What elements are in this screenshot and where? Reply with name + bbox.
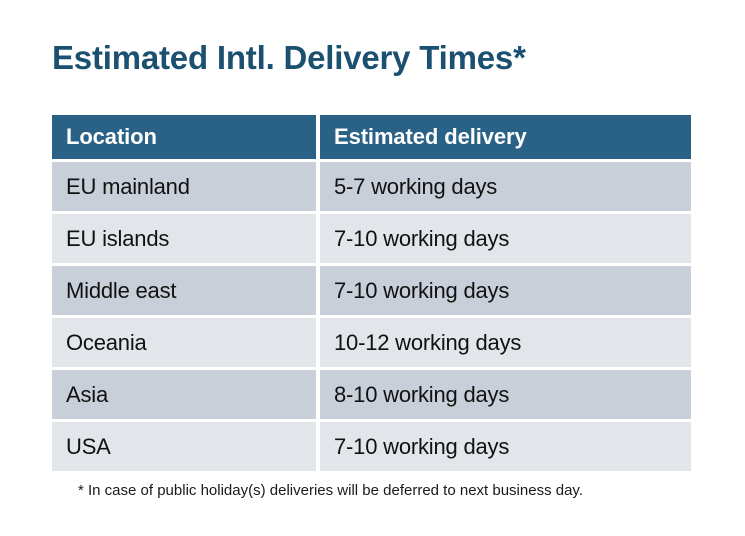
- footnote-text: * In case of public holiday(s) deliverie…: [78, 480, 583, 502]
- cell-location: Oceania: [52, 318, 316, 367]
- table-row: EU mainland 5-7 working days: [52, 162, 691, 211]
- delivery-times-page: Estimated Intl. Delivery Times* Location…: [0, 0, 745, 536]
- cell-estimated-delivery: 10-12 working days: [320, 318, 691, 367]
- cell-estimated-delivery: 7-10 working days: [320, 266, 691, 315]
- cell-location: Asia: [52, 370, 316, 419]
- cell-estimated-delivery: 7-10 working days: [320, 214, 691, 263]
- cell-location: EU islands: [52, 214, 316, 263]
- cell-estimated-delivery: 5-7 working days: [320, 162, 691, 211]
- table-row: EU islands 7-10 working days: [52, 214, 691, 263]
- cell-estimated-delivery: 7-10 working days: [320, 422, 691, 471]
- cell-location: USA: [52, 422, 316, 471]
- column-header-location: Location: [52, 115, 316, 159]
- cell-estimated-delivery: 8-10 working days: [320, 370, 691, 419]
- table-row: Asia 8-10 working days: [52, 370, 691, 419]
- delivery-times-table: Location Estimated delivery EU mainland …: [52, 115, 691, 471]
- cell-location: Middle east: [52, 266, 316, 315]
- page-title: Estimated Intl. Delivery Times*: [52, 36, 526, 80]
- cell-location: EU mainland: [52, 162, 316, 211]
- column-header-estimated-delivery: Estimated delivery: [320, 115, 691, 159]
- table-header-row: Location Estimated delivery: [52, 115, 691, 159]
- table-row: Oceania 10-12 working days: [52, 318, 691, 367]
- table-row: Middle east 7-10 working days: [52, 266, 691, 315]
- table-row: USA 7-10 working days: [52, 422, 691, 471]
